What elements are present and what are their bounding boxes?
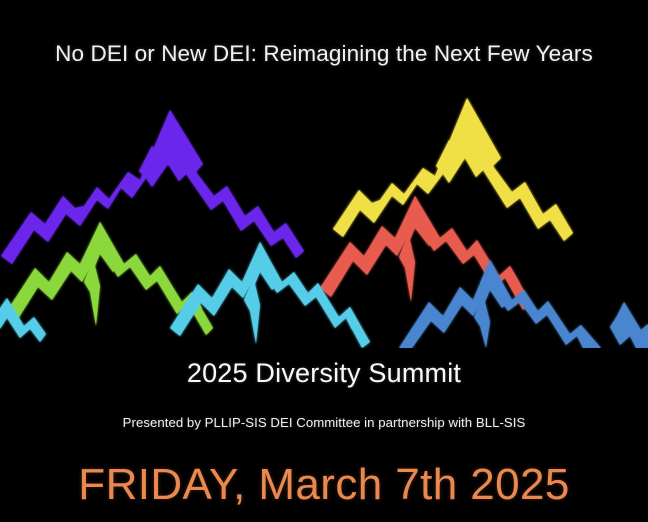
yellow-mountain [333,98,573,241]
page-title: No DEI or New DEI: Reimagining the Next … [0,40,648,67]
presented-by-text: Presented by PLLIP-SIS DEI Committee in … [0,415,648,430]
summit-title: 2025 Diversity Summit [0,358,648,389]
diversity-summit-poster: No DEI or New DEI: Reimagining the Next … [0,0,648,522]
blue-mountain [399,260,648,348]
purple-mountain [1,110,304,264]
mountain-range-graphic [0,86,648,348]
cyan-mountain [0,242,370,348]
event-date: FRIDAY, March 7th 2025 [0,460,648,510]
